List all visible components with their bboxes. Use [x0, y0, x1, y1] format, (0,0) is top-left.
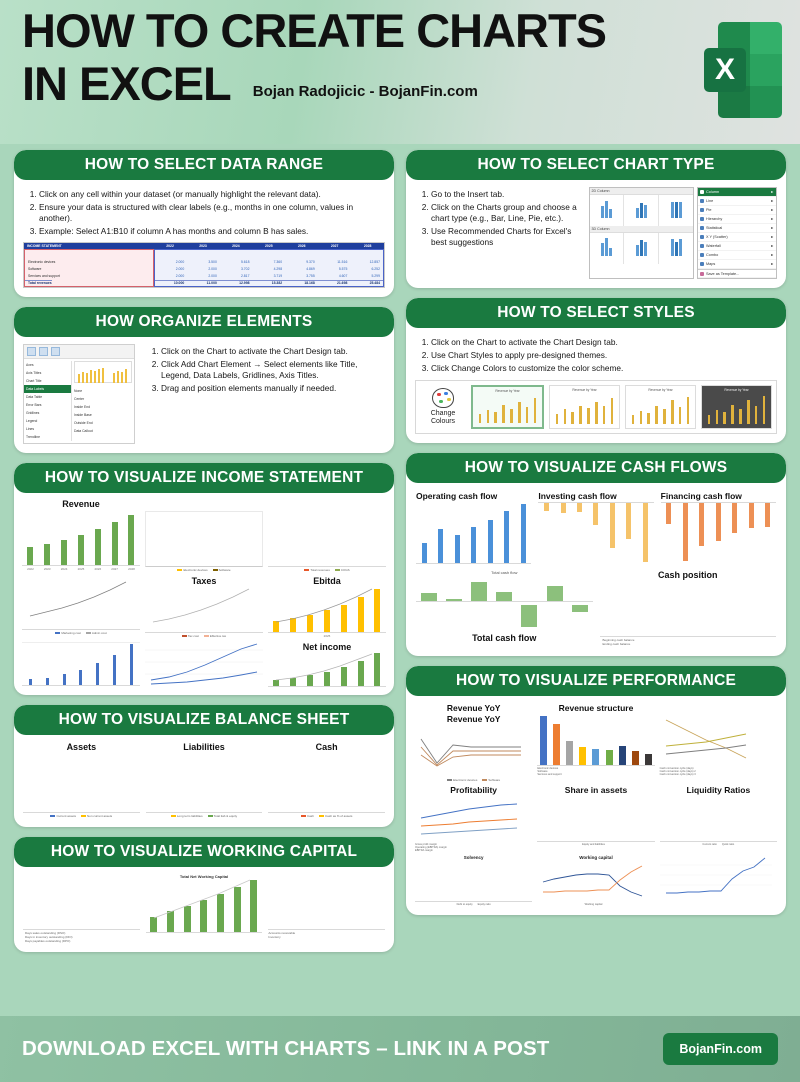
legend-entry: Debt to equity — [457, 903, 473, 906]
legend-entry: Software — [213, 568, 231, 572]
cell: 5.299 — [350, 274, 383, 278]
panel-title: HOW TO SELECT STYLES — [497, 304, 694, 322]
legend: Days sales outstanding (DSO) Days in inv… — [23, 930, 140, 943]
chart-title: Taxes — [145, 576, 263, 586]
sheet-col-header: 2028 — [351, 244, 384, 248]
panel-title: HOW TO VISUALIZE BALANCE SHEET — [59, 711, 350, 729]
sheet-value-selection[interactable]: 2.000 3.500 5.618 7.360 9.370 11.516 12.… — [154, 249, 384, 287]
bar — [27, 547, 33, 565]
chevron-right-icon: ► — [771, 190, 774, 194]
style-thumb-4[interactable]: Revenue by Year — [701, 385, 772, 429]
panel-board: HOW TO SELECT DATA RANGE Click on any ce… — [0, 150, 800, 1016]
tick: 2023 — [44, 567, 51, 571]
cell: 5.575 — [318, 267, 351, 271]
panel-body: Operating cash flow Investing cash flow — [406, 483, 786, 656]
step-item: Click on the Chart to activate the Chart… — [431, 337, 777, 348]
steps-list: Click on any cell within your dataset (o… — [39, 189, 385, 237]
legend-entry: Electronic devices — [177, 568, 207, 572]
chart-costs: Total revenues COGS — [268, 499, 386, 572]
thumb-bars — [629, 394, 692, 424]
cell: 3.500 — [187, 260, 220, 264]
chart-profitability: Share in assets Equity and liabilities — [537, 785, 654, 852]
excel-logo: X — [704, 22, 782, 118]
legend: Electronic devices Software — [415, 777, 532, 782]
legend-entry: Effective tax — [204, 634, 226, 638]
panel-header-working-capital: HOW TO VISUALIZE WORKING CAPITAL — [14, 837, 394, 867]
thumb-title: Revenue by Year — [473, 389, 542, 393]
add-chart-element-menu-screenshot: Axes Axis Titles Chart Title Data Labels… — [23, 344, 135, 444]
legend: Cash conversion cycle (days) Cash conver… — [660, 766, 777, 776]
menu-item[interactable]: Axes — [24, 361, 71, 369]
gallery-thumb-3d-clustered-column[interactable] — [590, 233, 625, 264]
sheet-col-header: 2024 — [219, 244, 252, 248]
sheet-row: Total revenues — [25, 279, 153, 286]
chart-title: Net income — [268, 642, 386, 652]
menu-item[interactable]: Error Bars — [24, 401, 71, 409]
panel-balance-sheet: HOW TO VISUALIZE BALANCE SHEET Assets — [14, 705, 394, 827]
chart-opex: Marketing cost Admin cost — [22, 576, 140, 638]
sheet-col-header: 2025 — [252, 244, 285, 248]
legend-entry: Long term liabilities — [171, 814, 203, 818]
cell: 2.000 — [187, 274, 220, 278]
plot-area — [145, 511, 263, 567]
sheet-row: 2.000 3.500 5.618 7.360 9.370 11.516 12.… — [155, 258, 383, 265]
plot-area — [537, 714, 654, 766]
chart-title: Liquidity Ratios — [660, 785, 777, 795]
panel-body: Click on the Chart to activate the Chart… — [406, 328, 786, 443]
menu-item[interactable]: Legend — [24, 417, 71, 425]
page-header: HOW TO CREATE CHARTS IN EXCEL Bojan Rado… — [0, 0, 800, 144]
left-column: HOW TO SELECT DATA RANGE Click on any ce… — [14, 150, 394, 962]
cell: 12.857 — [350, 260, 383, 264]
panel-header-income-statement: HOW TO VISUALIZE INCOME STATEMENT — [14, 463, 394, 493]
plot-area — [416, 502, 531, 564]
chart-efficiency: Profitability Gross profit margin Operat… — [415, 785, 532, 852]
legend: Working capital — [537, 902, 654, 906]
chart-title: Ebitda — [268, 576, 386, 586]
menu-item-hierarchy[interactable]: Hierarchy► — [698, 215, 776, 224]
legend-entry: Admin cost — [86, 631, 107, 635]
legend-entry: Non current assets — [81, 814, 112, 818]
legend-entry: Current ratio — [702, 843, 716, 846]
chart-net-income: Net income — [268, 642, 386, 687]
panel-header-styles: HOW TO SELECT STYLES — [406, 298, 786, 328]
cell: 4.607 — [318, 274, 351, 278]
legend: Current ratio Quick ratio — [660, 842, 777, 846]
excel-logo-letter: X — [704, 48, 746, 92]
chart-total-net-working-capital: Total Net Working Capital — [146, 874, 263, 943]
menu-item[interactable]: Trendline — [24, 433, 71, 441]
sheet-col-header: 2022 — [154, 244, 187, 248]
legend: Marketing cost Admin cost — [22, 630, 140, 635]
statistical-icon — [700, 226, 704, 230]
thumb-bars — [476, 395, 539, 423]
panel-styles: HOW TO SELECT STYLES Click on the Chart … — [406, 298, 786, 443]
steps-list: Go to the Insert tab. Click on the Chart… — [431, 189, 582, 248]
panel-body: Axes Axis Titles Chart Title Data Labels… — [14, 337, 394, 453]
legend-entry: EBITDA margin — [415, 849, 532, 852]
chart-operating-cash-flow: Operating cash flow — [416, 491, 531, 564]
menu-secondary[interactable]: None Center Inside End Inside Base Outsi… — [72, 387, 118, 441]
chart-share-in-assets: Liquidity Ratios Current ratio Quick rat… — [660, 785, 777, 852]
row-label: Software — [25, 267, 41, 271]
chart-title: Revenue — [22, 499, 140, 509]
menu-item-save-as-template[interactable]: Save as Template... — [698, 269, 776, 278]
cell: 3.702 — [220, 267, 253, 271]
sheet-row: 2.000 2.000 2.817 3.719 3.755 4.607 5.29… — [155, 272, 383, 279]
style-thumb-1[interactable]: Revenue by Year — [471, 385, 544, 429]
chart-title: Assets — [23, 742, 140, 752]
chart-title: Profitability — [415, 785, 532, 795]
bar — [112, 522, 118, 565]
scatter-icon — [700, 235, 704, 239]
row-label: Services and support — [25, 274, 60, 278]
cell: 2.000 — [155, 274, 188, 278]
chevron-right-icon: ► — [771, 262, 774, 266]
cell: 21.698 — [318, 280, 351, 285]
plot-area — [538, 502, 653, 564]
menu-item[interactable]: Data Callout — [72, 427, 118, 435]
plot-area — [23, 753, 140, 813]
legend-entry: Cash conversion cycle (days) 3 — [660, 773, 777, 776]
step-item: Click Change Colors to customize the col… — [431, 363, 777, 374]
menu-item[interactable]: Inside Base — [72, 411, 118, 419]
cell: 9.370 — [285, 260, 318, 264]
cell: 11.000 — [187, 280, 220, 285]
plot-area — [23, 874, 140, 930]
panel-data-range: HOW TO SELECT DATA RANGE Click on any ce… — [14, 150, 394, 297]
chart-revenue-breakdown: Electronic devices Software — [145, 499, 263, 572]
chevron-right-icon: ► — [771, 235, 774, 239]
panel-body: Revenue 2022 2023 2024 2025 — [14, 493, 394, 695]
row-label: Total revenues — [25, 280, 52, 285]
chart-cash-position: Cash position Beginning cash balance End… — [600, 570, 777, 646]
menu-item-combo[interactable]: Combo► — [698, 251, 776, 260]
change-colors-button[interactable]: Change Colours — [420, 388, 466, 426]
legend-entry: Cash — [301, 814, 314, 818]
menu-item[interactable]: Chart Title — [24, 377, 71, 385]
plot-area — [268, 874, 385, 930]
legend: Current assets Non current assets — [23, 813, 140, 818]
logo-quad — [750, 86, 782, 118]
plot-area — [600, 581, 777, 637]
cell: 18.168 — [285, 280, 318, 285]
panel-title: HOW TO VISUALIZE PERFORMANCE — [456, 672, 736, 690]
legend-entry: Total revenues — [304, 568, 330, 572]
panel-body: Revenue YoY Revenue YoY Electronic devic… — [406, 696, 786, 915]
gallery-section-label: 3D Column — [590, 226, 693, 233]
trend-line — [268, 653, 386, 687]
style-thumb-3[interactable]: Revenue by Year — [625, 385, 696, 429]
legend: Total revenues COGS — [268, 567, 386, 572]
sheet-col-header: 2027 — [318, 244, 351, 248]
chart-revenue-yoy: Revenue YoY Revenue YoY Electronic devic… — [415, 703, 532, 782]
cell: 2.000 — [187, 267, 220, 271]
legend-entry: Tax cost — [182, 634, 199, 638]
legend: Accounts receivable Inventory — [268, 930, 385, 939]
column-icon — [700, 190, 704, 194]
step-item: Drag and position elements manually if n… — [161, 383, 385, 394]
sheet-row: 2.000 2.000 3.702 4.298 4.869 5.575 6.25… — [155, 265, 383, 272]
plot-area — [22, 576, 140, 630]
panel-header-data-range: HOW TO SELECT DATA RANGE — [14, 150, 394, 180]
cell: 12.998 — [220, 280, 253, 285]
cell: 3.755 — [285, 274, 318, 278]
thumb-title: Revenue by Year — [550, 388, 619, 392]
gallery-thumb-3d-100-stacked-column[interactable] — [659, 233, 693, 264]
menu-item-statistical[interactable]: Statistical► — [698, 224, 776, 233]
legend: Cash Cash as % of assets — [268, 813, 385, 818]
plot-area — [537, 860, 649, 902]
chart-working-capital-perf — [660, 855, 777, 906]
chart-total-cash-flow: Total cash flow Total ca — [416, 570, 593, 646]
chart-investing-cash-flow: Investing cash flow — [538, 491, 653, 564]
panel-body: Click on any cell within your dataset (o… — [14, 180, 394, 297]
menu-item[interactable]: Center — [72, 395, 118, 403]
panel-performance: HOW TO VISUALIZE PERFORMANCE Revenue YoY… — [406, 666, 786, 915]
bar — [61, 540, 67, 565]
menu-item[interactable]: Lines — [24, 425, 71, 433]
add-chart-element-icon[interactable] — [27, 347, 36, 356]
chart-title: Cash — [268, 742, 385, 752]
row-label: Electronic devices — [25, 260, 55, 264]
legend-note: Days payables outstanding (DPO) — [25, 939, 140, 943]
chart-title: Financing cash flow — [661, 491, 776, 501]
chart-gallery[interactable]: 2D Column 3D Column — [589, 187, 694, 279]
legend-entry: Current assets — [50, 814, 76, 818]
chart-costs-detail — [22, 642, 140, 687]
chart-solvency: Working capital Working capital — [537, 855, 654, 906]
plot-area — [415, 796, 527, 842]
menu-item[interactable]: Axis Titles — [24, 369, 71, 377]
author-byline: Bojan Radojicic - BojanFin.com — [253, 83, 478, 109]
chart-title: Investing cash flow — [538, 491, 653, 501]
plot-area — [415, 725, 527, 777]
steps-list: Click on the Chart to activate the Chart… — [161, 346, 385, 394]
legend-entry: Inventory — [268, 935, 385, 939]
menu-item-pie[interactable]: Pie► — [698, 206, 776, 215]
legend-entry: Ending cash balance — [603, 642, 777, 646]
panel-income-statement: HOW TO VISUALIZE INCOME STATEMENT Revenu… — [14, 463, 394, 695]
step-item: Go to the Insert tab. — [431, 189, 582, 200]
tick: 2025 — [78, 567, 85, 571]
legend: Long term liabilities Total liab & equit… — [146, 813, 263, 818]
panel-title: HOW TO VISUALIZE WORKING CAPITAL — [51, 843, 357, 861]
tick: 2028 — [128, 567, 135, 571]
plot-area — [661, 502, 776, 564]
panel-organize-elements: HOW ORGANIZE ELEMENTS — [14, 307, 394, 453]
page-title-line1: HOW TO CREATE CHARTS — [22, 6, 800, 55]
combo-icon — [700, 253, 704, 257]
sheet-col-header: 2026 — [285, 244, 318, 248]
sheet-row: Electronic devices — [25, 258, 153, 265]
legend: Debt to equity Equity ratio — [415, 902, 532, 906]
plot-area — [416, 575, 593, 631]
plot-area — [146, 753, 263, 813]
legend-entry: Services and support — [537, 773, 654, 776]
chart-wc-structure: Days sales outstanding (DSO) Days in inv… — [23, 874, 140, 943]
menu-item[interactable]: Data Table — [24, 393, 71, 401]
menu-item-selected[interactable]: Data Labels — [24, 385, 71, 393]
plot-area — [22, 510, 140, 566]
menu-item-column[interactable]: Column► — [698, 188, 776, 197]
panel-cash-flows: HOW TO VISUALIZE CASH FLOWS Operating ca… — [406, 453, 786, 656]
thumb-title: Revenue by Year — [702, 388, 771, 392]
x-axis-labels: 2025 — [268, 633, 386, 638]
page-title-line2: IN EXCEL — [22, 59, 231, 108]
chevron-right-icon: ► — [771, 244, 774, 248]
legend: Electronic devices Software — [145, 567, 263, 572]
tick: 2025 — [324, 634, 331, 638]
plot-area — [268, 653, 386, 687]
menu-item[interactable]: Gridlines — [24, 409, 71, 417]
legend-entry: Cash as % of assets — [319, 814, 352, 818]
legend-entry: Equity ratio — [478, 903, 491, 906]
tick: 2022 — [27, 567, 34, 571]
plot-area — [145, 587, 263, 633]
cell: 6.252 — [350, 267, 383, 271]
bar — [95, 529, 101, 565]
gallery-thumb-100-stacked-column[interactable] — [659, 195, 693, 226]
plot-area — [660, 714, 772, 766]
legend: Gross profit margin Operating (EBITDA) m… — [415, 842, 532, 852]
sheet-body: Electronic devices Software Services and… — [24, 249, 384, 287]
plot-area — [145, 642, 263, 686]
plot-area — [660, 855, 772, 897]
panel-header-chart-type: HOW TO SELECT CHART TYPE — [406, 150, 786, 180]
x-axis-labels: 2022 2023 2024 2025 2026 2027 2028 — [22, 566, 140, 571]
tick: 2026 — [94, 567, 101, 571]
sheet-row: 10.000 11.000 12.998 15.382 18.168 21.69… — [155, 279, 383, 286]
footer-cta-text: DOWNLOAD EXCEL WITH CHARTS – LINK IN A P… — [22, 1037, 549, 1061]
legend: Beginning cash balance Ending cash balan… — [600, 637, 777, 646]
plot-area — [415, 860, 532, 902]
cell: 10.000 — [155, 280, 188, 285]
legend: Electronic devices Software Services and… — [537, 766, 654, 776]
bar — [78, 535, 84, 565]
thumb-bars — [553, 394, 616, 424]
sheet-row: Software — [25, 265, 153, 272]
panel-body: Assets Current assets Non current assets — [14, 735, 394, 827]
legend-entry: Equity and liabilities — [582, 843, 605, 846]
chart-ebitda: Ebitda 2025 — [268, 576, 386, 638]
step-item: Click on any cell within your dataset (o… — [39, 189, 385, 200]
panel-body: Go to the Insert tab. Click on the Chart… — [406, 180, 786, 288]
waterfall-icon — [700, 244, 704, 248]
page-footer: DOWNLOAD EXCEL WITH CHARTS – LINK IN A P… — [0, 1016, 800, 1082]
ribbon-strip — [24, 345, 134, 359]
bojanfin-website-button[interactable]: BojanFin.com — [663, 1033, 778, 1065]
menu-item-xy-scatter[interactable]: X Y (Scatter)► — [698, 233, 776, 242]
change-colors-icon[interactable] — [51, 347, 60, 356]
gallery-thumb-clustered-column[interactable] — [590, 195, 625, 226]
step-item: Click Add Chart Element → Select element… — [161, 359, 385, 382]
chart-financing-cash-flow: Financing cash flow — [661, 491, 776, 564]
cell: 2.817 — [220, 274, 253, 278]
chart-liquidity-ratios: Solvency Debt to equity Equity ratio — [415, 855, 532, 906]
chart-styles-gallery[interactable]: Change Colours Revenue by Year Revenue b… — [415, 380, 777, 434]
spreadsheet-preview: INCOME STATEMENT 2022 2023 2024 2025 202… — [23, 242, 385, 288]
trend-line — [145, 587, 263, 633]
panel-title: HOW TO SELECT CHART TYPE — [477, 156, 714, 174]
cell: 4.869 — [285, 267, 318, 271]
menu-item[interactable]: None — [72, 387, 118, 395]
plot-area — [22, 642, 140, 686]
bar — [44, 544, 50, 565]
gallery-thumb-3d-stacked-column[interactable] — [624, 233, 659, 264]
legend-entry: Total liab & equity — [208, 814, 238, 818]
quick-layout-icon[interactable] — [39, 347, 48, 356]
gallery-thumb-stacked-column[interactable] — [624, 195, 659, 226]
trend-line — [268, 587, 386, 633]
sheet-row: Services and support — [25, 272, 153, 279]
menu-item-waterfall[interactable]: Waterfall► — [698, 242, 776, 251]
chart-cash: Cash Cash Cash as % of assets — [268, 742, 385, 818]
chart-taxes: Taxes Tax cost — [145, 576, 263, 638]
step-item: Click on the Charts group and choose a c… — [431, 202, 582, 225]
cell: 7.360 — [252, 260, 285, 264]
panel-body: Days sales outstanding (DSO) Days in inv… — [14, 867, 394, 952]
panel-chart-type: HOW TO SELECT CHART TYPE Go to the Inser… — [406, 150, 786, 288]
gallery-section-label: 2D Column — [590, 188, 693, 195]
cell: 2.000 — [155, 260, 188, 264]
chart-type-menu[interactable]: Column► Line► Pie► Hierarchy► Statistica… — [697, 187, 777, 279]
cell: 25.484 — [350, 280, 383, 285]
menu-item-line[interactable]: Line► — [698, 197, 776, 206]
chart-liabilities: Liabilities Long term liabilities Total … — [146, 742, 263, 818]
menu-item[interactable]: Inside End — [72, 403, 118, 411]
menu-item[interactable]: Outside End — [72, 419, 118, 427]
change-colors-label-1: Change — [420, 410, 466, 418]
chevron-right-icon: ► — [771, 208, 774, 212]
panel-title: HOW TO VISUALIZE CASH FLOWS — [465, 459, 728, 477]
chart-title: Revenue YoY — [415, 703, 532, 713]
tick: 2024 — [61, 567, 68, 571]
gallery-row — [590, 233, 693, 264]
style-thumb-2[interactable]: Revenue by Year — [549, 385, 620, 429]
cell: 2.000 — [155, 267, 188, 271]
chevron-right-icon: ► — [771, 253, 774, 257]
sheet-col-header: 2023 — [187, 244, 220, 248]
step-item: Use Chart Styles to apply pre-designed t… — [431, 350, 777, 361]
template-icon — [700, 272, 704, 276]
cell: 11.516 — [318, 260, 351, 264]
plot-area — [268, 753, 385, 813]
menu-primary[interactable]: Axes Axis Titles Chart Title Data Labels… — [24, 361, 72, 441]
panel-title: HOW ORGANIZE ELEMENTS — [96, 313, 313, 331]
sheet-label-selection[interactable]: Electronic devices Software Services and… — [24, 249, 154, 287]
legend-entry: Working capital — [585, 903, 603, 906]
chart-wc-components: Accounts receivable Inventory — [268, 874, 385, 943]
panel-header-cash-flows: HOW TO VISUALIZE CASH FLOWS — [406, 453, 786, 483]
cell: 15.382 — [252, 280, 285, 285]
logo-quad — [750, 54, 782, 86]
menu-item-maps[interactable]: Maps► — [698, 260, 776, 269]
panel-header-organize: HOW ORGANIZE ELEMENTS — [14, 307, 394, 337]
chart-subtitle: Revenue YoY — [415, 714, 532, 724]
change-colors-label-2: Colours — [420, 418, 466, 426]
pie-icon — [700, 208, 704, 212]
step-item: Ensure your data is structured with clea… — [39, 202, 385, 225]
chart-share-in-assets-line: Cash conversion cycle (days) Cash conver… — [660, 703, 777, 782]
gallery-row — [590, 195, 693, 226]
sheet-corner-label: INCOME STATEMENT — [24, 244, 154, 248]
maps-icon — [700, 262, 704, 266]
plot-area — [268, 511, 386, 567]
chevron-right-icon: ► — [771, 217, 774, 221]
trend-line — [146, 879, 264, 933]
thumb-bars — [705, 394, 768, 424]
